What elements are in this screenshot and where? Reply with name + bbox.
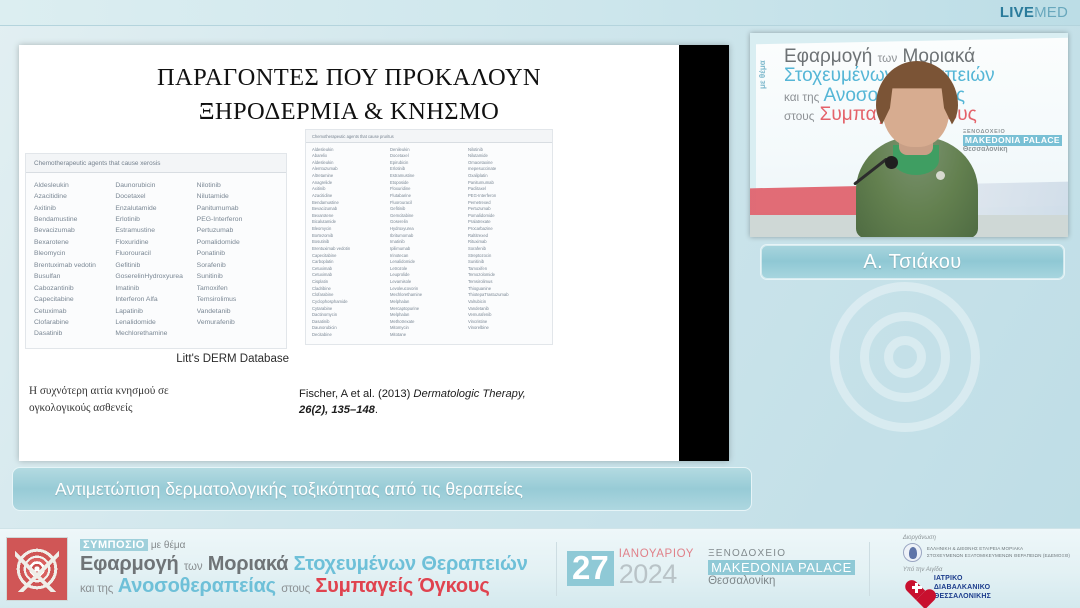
agent-name: Bexarotene: [312, 213, 390, 220]
backdrop-line2-a: Στοχευμένων: [784, 65, 894, 86]
agent-name: Sunitinib: [468, 259, 546, 266]
agent-name: Vemurafenib: [468, 312, 546, 319]
agent-name: Panitumumab: [468, 180, 546, 187]
xerosis-table-column-1: AldesleukinAzacitidineAxitinibBendamusti…: [34, 180, 115, 340]
livemed-logo-med: MED: [1034, 4, 1068, 21]
congress-banner: ΣΥΜΠΟΣΙΟ με θέμα Εφαρμογή των Μοριακά Στ…: [0, 528, 1080, 608]
agent-name: Busulfan: [34, 271, 115, 282]
watermark-rings: [790, 262, 1030, 492]
agent-name: Oxaliplatin: [468, 173, 546, 180]
congress-title-stous: στους: [281, 583, 310, 595]
agent-name: Hydroxyurea: [390, 226, 468, 233]
xerosis-table-column-2: DaunorubicinDocetaxelEnzalutamideErlotin…: [115, 180, 196, 340]
slide-title: ΠΑΡΑΓΟΝΤΕΣ ΠΟΥ ΠΡΟΚΑΛΟΥΝ ΞΗΡΟΔΕΡΜΙΑ & ΚΝ…: [19, 61, 679, 129]
agent-name: Melphalan: [390, 312, 468, 319]
congress-title-line-3: και της Ανοσοθεραπείας στους Συμπαγείς Ό…: [80, 575, 546, 597]
agent-name: Pemetrexed: [468, 200, 546, 207]
agent-name: Cisplatin: [312, 279, 390, 286]
pruritus-table-column-2: DenileukinDocetaxelEpirubicinErlotinibEs…: [390, 147, 468, 339]
agent-name: Gefitinib: [115, 260, 196, 271]
agent-name: Vandetanib: [197, 306, 278, 317]
congress-title-block: ΣΥΜΠΟΣΙΟ με θέμα Εφαρμογή των Μοριακά Στ…: [76, 539, 546, 597]
agent-name: Streptozocin: [468, 253, 546, 260]
agent-name: Bevacizumab: [312, 206, 390, 213]
congress-venue-label: ΞΕΝΟΔΟΧΕΙΟ: [708, 548, 855, 560]
agent-name: Vincristine: [468, 319, 546, 326]
agent-name: Paclitaxel: [468, 186, 546, 193]
backdrop-line1-b: των: [878, 52, 898, 65]
congress-day: 27: [567, 551, 614, 585]
agent-name: Pertuzumab: [197, 225, 278, 236]
organizer-seal-icon: [903, 543, 922, 562]
citation-volume-pages: 26(2), 135–148: [299, 404, 375, 416]
agent-name: Procarbazine: [468, 226, 546, 233]
agent-name: Denileukin: [390, 147, 468, 154]
agent-name: Capecitabine: [34, 294, 115, 305]
agent-name: Brentuximab vedotin: [34, 260, 115, 271]
agent-name: Clofarabine: [312, 292, 390, 299]
speaker-jacket-button: [936, 171, 945, 180]
pruritus-table-column-3: NilotinibNilutamideOmacetaxinemepesuccin…: [468, 147, 546, 339]
backdrop-side-text: με θέμα: [758, 60, 767, 89]
agent-name: Gemcitabine: [390, 213, 468, 220]
congress-venue-block: ΞΕΝΟΔΟΧΕΙΟ MAKEDONIA PALACE Θεσσαλονίκη: [708, 548, 855, 589]
agent-name: Dasatinib: [34, 328, 115, 339]
slide-body: Chemotherapeutic agents that cause xeros…: [19, 143, 679, 443]
agent-name: Carboplatin: [312, 259, 390, 266]
citation-authors: Fischer, A et al. (2013): [299, 388, 413, 400]
agent-name: Imatinib: [390, 239, 468, 246]
speaker-video[interactable]: με θέμα Εφαρμογή των Μοριακά Στοχευμένων…: [750, 33, 1068, 237]
agent-name: Bleomycin: [34, 248, 115, 259]
agent-name: Fluorouracil: [390, 200, 468, 207]
congress-symposium-label: ΣΥΜΠΟΣΙΟ: [80, 539, 148, 551]
agent-name: Tamoxifen: [468, 266, 546, 273]
backdrop-line1-a: Εφαρμογή: [784, 46, 872, 67]
pruritus-agents-table: Chemotherapeutic agents that cause pruri…: [305, 129, 553, 345]
xerosis-table-column-3: NilotinibNilutamidePanitumumabPEG-Interf…: [197, 180, 278, 340]
backdrop-line4-a: στους: [784, 110, 814, 123]
agent-name: mepesuccinate: [468, 166, 546, 173]
agent-name: Enzalutamide: [115, 203, 196, 214]
agent-name: Dasatinib: [312, 319, 390, 326]
agent-name: Vemurafenib: [197, 317, 278, 328]
slide-title-line-2: ΞΗΡΟΔΕΡΜΙΑ & ΚΝΗΣΜΟ: [19, 95, 679, 129]
agent-name: Bosutinib: [312, 239, 390, 246]
agent-name: Cladribine: [312, 286, 390, 293]
agent-name: Letrozole: [390, 266, 468, 273]
agent-name: Abarelix: [312, 153, 390, 160]
agent-name: Melphalan: [390, 299, 468, 306]
agent-name: Mitomycin: [390, 325, 468, 332]
agent-name: Anagrelide: [312, 180, 390, 187]
congress-symposium-sub: με θέμα: [151, 540, 186, 551]
agent-name: Estramustine: [390, 173, 468, 180]
citation-period: .: [375, 404, 378, 416]
agent-name: Ibritumomab: [390, 233, 468, 240]
agent-name: Altretamine: [312, 173, 390, 180]
agent-name: Lenalidomide: [115, 317, 196, 328]
sponsors-block: Διοργάνωση ΕΛΛΗΝΙΚΗ & ΔΙΕΘΝΗΣ ΕΤΑΙΡΕΙΑ Μ…: [903, 535, 1080, 601]
banner-divider-1: [556, 542, 557, 596]
agent-name: Vandetanib: [468, 306, 546, 313]
agent-name: Bleomycin: [312, 226, 390, 233]
agent-name: Pertuzumab: [468, 206, 546, 213]
agent-name: Azacitidine: [312, 193, 390, 200]
congress-title-kai-tis: και της: [80, 583, 113, 595]
agent-name: Pralatrexate: [468, 219, 546, 226]
greek-note: Η συχνότερη αιτία κνησμού σε ογκολογικού…: [29, 383, 229, 417]
agent-name: Docetaxel: [115, 191, 196, 202]
agent-name: Daunorubicin: [312, 325, 390, 332]
agent-name: Brentuximab vedotin: [312, 246, 390, 253]
agent-name: Etoposide: [390, 180, 468, 187]
agent-name: Valrubicin: [468, 299, 546, 306]
slide-viewer[interactable]: ΠΑΡΑΓΟΝΤΕΣ ΠΟΥ ΠΡΟΚΑΛΟΥΝ ΞΗΡΟΔΕΡΜΙΑ & ΚΝ…: [19, 45, 729, 461]
session-caption-bar: Αντιμετώπιση δερματολογικής τοξικότητας …: [12, 467, 752, 511]
agent-name: Mechlorethamine: [115, 328, 196, 339]
agent-name: Raltitrexed: [468, 233, 546, 240]
agent-name: Cabozantinib: [34, 283, 115, 294]
agent-name: Decitabine: [312, 332, 390, 339]
pruritus-table-caption: Chemotherapeutic agents that cause pruri…: [306, 130, 552, 143]
slide-title-line-1: ΠΑΡΑΓΟΝΤΕΣ ΠΟΥ ΠΡΟΚΑΛΟΥΝ: [19, 61, 679, 95]
congress-title-ton: των: [184, 561, 203, 573]
congress-symposium-line: ΣΥΜΠΟΣΙΟ με θέμα: [80, 539, 546, 551]
agent-name: Goserelin: [390, 219, 468, 226]
agent-name: Interferon Alfa: [115, 294, 196, 305]
organizer-name: ΕΛΛΗΝΙΚΗ & ΔΙΕΘΝΗΣ ΕΤΑΙΡΕΙΑ ΜΟΡΙΑΚΑ ΣΤΟΧ…: [927, 546, 1070, 559]
congress-date-block: 27 ΙΑΝΟΥΑΡΙΟΥ 2024: [567, 549, 694, 588]
agent-name: Azacitidine: [34, 191, 115, 202]
agent-name: ThiotepaTrastuzumab: [468, 292, 546, 299]
hospital-name-line-2: ΔΙΑΒΑΛΚΑΝΙΚΟ: [934, 584, 991, 593]
congress-emblem-icon: [6, 537, 68, 601]
agent-name: Sunitinib: [197, 271, 278, 282]
congress-venue-city: Θεσσαλονίκη: [708, 575, 855, 589]
watermark-ring-middle: [860, 312, 950, 402]
watermark-ring-outer: [830, 282, 980, 432]
agent-name: Cytarabine: [312, 306, 390, 313]
agent-name: Nilotinib: [468, 147, 546, 154]
medical-cross-icon: [912, 583, 922, 593]
agent-name: Sorafenib: [468, 246, 546, 253]
congress-title-moriaka: Μοριακά: [208, 553, 289, 575]
agent-name: Mechlorethamine: [390, 292, 468, 299]
congress-title-line-2: Εφαρμογή των Μοριακά Στοχευμένων Θεραπει…: [80, 553, 546, 575]
backdrop-line3-a: και της: [784, 91, 819, 104]
agent-name: Aldesleukin: [312, 160, 390, 167]
hospital-name-line-3: ΘΕΣΣΑΛΟΝΙΚΗΣ: [934, 593, 991, 602]
agent-name: Pomalidomide: [468, 213, 546, 220]
agent-name: Levamisole: [390, 279, 468, 286]
congress-title-stoxeumenon: Στοχευμένων: [294, 553, 416, 575]
congress-title-efarmogi: Εφαρμογή: [80, 553, 179, 575]
agent-name: Temozolomide: [468, 272, 546, 279]
organizer-name-line-1: ΕΛΛΗΝΙΚΗ & ΔΙΕΘΝΗΣ ΕΤΑΙΡΕΙΑ ΜΟΡΙΑΚΑ: [927, 546, 1070, 553]
agent-name: Bexarotene: [34, 237, 115, 248]
agent-name: Estramustine: [115, 225, 196, 236]
agent-name: Docetaxel: [390, 153, 468, 160]
pruritus-table-column-1: AldesleukinAbarelixAldesleukinAlemtuzuma…: [312, 147, 390, 339]
agent-name: Bevacizumab: [34, 225, 115, 236]
agent-name: PEG-Interferon: [197, 214, 278, 225]
agent-name: Clofarabine: [34, 317, 115, 328]
agent-name: Rituximab: [468, 239, 546, 246]
greek-note-line-2: ογκολογικούς ασθενείς: [29, 400, 229, 417]
agent-name: Ipilimumab: [390, 246, 468, 253]
congress-year: 2024: [619, 561, 694, 588]
agent-name: Ponatinib: [197, 248, 278, 259]
agent-name: Bendamustine: [34, 214, 115, 225]
agent-name: Mitotane: [390, 332, 468, 339]
backdrop-hotel-block: ΞΕΝΟΔΟΧΕΙΟ MAKEDONIA PALACE Θεσσαλονίκη: [963, 129, 1062, 154]
litt-database-label: Litt's DERM Database: [159, 353, 289, 365]
agent-name: Mercaptopurine: [390, 306, 468, 313]
agent-name: Daunorubicin: [115, 180, 196, 191]
session-caption-text: Αντιμετώπιση δερματολογικής τοξικότητας …: [55, 479, 523, 500]
agent-name: Bortezomib: [312, 233, 390, 240]
agent-name: Dactinomycin: [312, 312, 390, 319]
citation-journal: Dermatologic Therapy,: [413, 388, 525, 400]
agent-name: Alemtuzumab: [312, 166, 390, 173]
livemed-logo-live: LIVE: [1000, 4, 1034, 21]
heart-cross-icon: [903, 577, 929, 601]
agent-name: Thioguanine: [468, 286, 546, 293]
top-bar: LIVEMED: [0, 0, 1080, 26]
agent-name: Erlotinib: [115, 214, 196, 225]
hospital-name-line-1: ΙΑΤΡΙΚΟ: [934, 575, 991, 584]
agent-name: Panitumumab: [197, 203, 278, 214]
agent-name: Lapatinib: [115, 306, 196, 317]
agent-name: Sorafenib: [197, 260, 278, 271]
agent-name: Methotrexate: [390, 319, 468, 326]
agent-name: Nilutamide: [197, 191, 278, 202]
presentation-slide: ΠΑΡΑΓΟΝΤΕΣ ΠΟΥ ΠΡΟΚΑΛΟΥΝ ΞΗΡΟΔΕΡΜΙΑ & ΚΝ…: [19, 45, 679, 461]
hospital-row: ΙΑΤΡΙΚΟ ΔΙΑΒΑΛΚΑΝΙΚΟ ΘΕΣΣΑΛΟΝΙΚΗΣ: [903, 575, 1070, 601]
speaker-name-label: Α. Τσιάκου: [863, 251, 961, 274]
agent-name: Lenalidomide: [390, 259, 468, 266]
agent-name: Floxuridine: [115, 237, 196, 248]
greek-note-line-1: Η συχνότερη αιτία κνησμού σε: [29, 383, 229, 400]
agent-name: Aldesleukin: [312, 147, 390, 154]
agent-name: Epirubicin: [390, 160, 468, 167]
agent-name: Floxuridine: [390, 186, 468, 193]
congress-title-anosotherapeias: Ανοσοθεραπείας: [118, 575, 276, 597]
agent-name: Axitinib: [312, 186, 390, 193]
agent-name: Nilutamide: [468, 153, 546, 160]
organizer-row: ΕΛΛΗΝΙΚΗ & ΔΙΕΘΝΗΣ ΕΤΑΙΡΕΙΑ ΜΟΡΙΑΚΑ ΣΤΟΧ…: [903, 543, 1070, 562]
agent-name: GoserelinHydroxyurea: [115, 271, 196, 282]
agent-name: Aldesleukin: [34, 180, 115, 191]
agent-name: Cyclophosphamide: [312, 299, 390, 306]
auspices-label: Υπό την Αιγίδα: [903, 567, 1070, 573]
agent-name: Levoleucovorin: [390, 286, 468, 293]
congress-title-therapeion: Θεραπειών: [421, 553, 527, 575]
agent-name: Cetuximab: [312, 266, 390, 273]
agent-name: Omacetaxine: [468, 160, 546, 167]
agent-name: Pomalidomide: [197, 237, 278, 248]
agent-name: Capecitabine: [312, 253, 390, 260]
livemed-logo: LIVEMED: [1000, 4, 1068, 21]
agent-name: Temsirolimus: [197, 294, 278, 305]
agent-name: Temsirolimus: [468, 279, 546, 286]
agent-name: Gefitinib: [390, 206, 468, 213]
agent-name: Cetuximab: [312, 272, 390, 279]
agent-name: Vinorelbine: [468, 325, 546, 332]
agent-name: Axitinib: [34, 203, 115, 214]
agent-name: PEG-Interferon: [468, 193, 546, 200]
xerosis-agents-table: Chemotherapeutic agents that cause xeros…: [25, 153, 287, 349]
agent-name: Flutabarine: [390, 193, 468, 200]
microphone-icon: [885, 156, 898, 169]
congress-venue-name: MAKEDONIA PALACE: [708, 560, 855, 576]
organizer-name-line-2: ΣΤΟΧΕΥΜΕΝΩΝ ΕΞΑΤΟΜΙΚΕΥΜΕΝΩΝ ΘΕΡΑΠΕΙΩΝ (Ε…: [927, 553, 1070, 560]
congress-month-year: ΙΑΝΟΥΑΡΙΟΥ 2024: [619, 549, 694, 588]
watermark-ring-inner: [884, 336, 926, 378]
backdrop-hotel-name: MAKEDONIA PALACE: [963, 135, 1062, 145]
agent-name: Fluorouracil: [115, 248, 196, 259]
agent-name: Bendamustine: [312, 200, 390, 207]
hospital-name: ΙΑΤΡΙΚΟ ΔΙΑΒΑΛΚΑΝΙΚΟ ΘΕΣΣΑΛΟΝΙΚΗΣ: [934, 575, 991, 601]
banner-divider-2: [869, 542, 870, 596]
agent-name: Leuprolide: [390, 272, 468, 279]
agent-name: Bicalutamide: [312, 219, 390, 226]
agent-name: Irinotecan: [390, 253, 468, 260]
xerosis-table-caption: Chemotherapeutic agents that cause xeros…: [26, 154, 286, 173]
agent-name: Tamoxifen: [197, 283, 278, 294]
congress-title-sympageis-ogkous: Συμπαγείς Όγκους: [315, 575, 489, 597]
agent-name: Cetuximab: [34, 306, 115, 317]
backdrop-hotel-city: Θεσσαλονίκη: [963, 146, 1062, 154]
organizer-label: Διοργάνωση: [903, 535, 1070, 541]
agent-name: Nilotinib: [197, 180, 278, 191]
agent-name: Erlotinib: [390, 166, 468, 173]
speaker-name-plate: Α. Τσιάκου: [760, 244, 1065, 280]
citation: Fischer, A et al. (2013) Dermatologic Th…: [299, 386, 569, 418]
agent-name: Imatinib: [115, 283, 196, 294]
